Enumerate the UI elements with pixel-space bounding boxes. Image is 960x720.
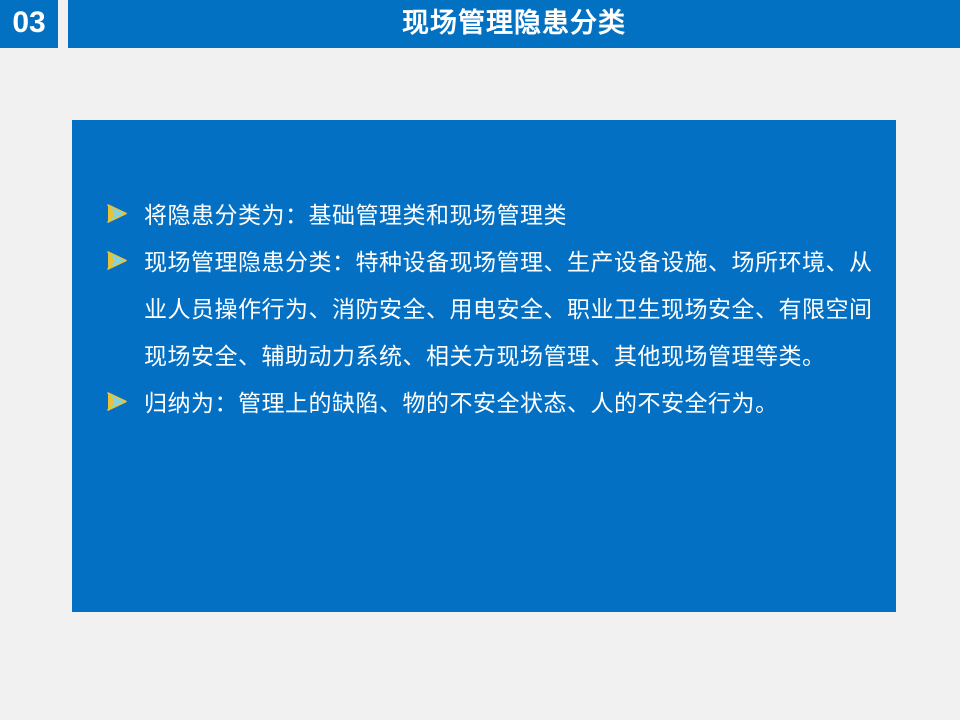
- list-item: 现场管理隐患分类：特种设备现场管理、生产设备设施、场所环境、从业人员操作行为、消…: [104, 239, 894, 380]
- list-item-text: 现场管理隐患分类：特种设备现场管理、生产设备设施、场所环境、从业人员操作行为、消…: [144, 249, 873, 369]
- title-bar: 现场管理隐患分类: [68, 0, 960, 48]
- content-panel: 将隐患分类为：基础管理类和现场管理类 现场管理隐患分类：特种设备现场管理、生产设…: [72, 120, 896, 612]
- list-item-text: 将隐患分类为：基础管理类和现场管理类: [144, 202, 567, 228]
- list-item: 将隐患分类为：基础管理类和现场管理类: [104, 192, 894, 239]
- arrow-head-bullet-icon: [104, 389, 130, 415]
- list-item-text: 归纳为：管理上的缺陷、物的不安全状态、人的不安全行为。: [144, 390, 779, 416]
- page-title: 现场管理隐患分类: [402, 10, 626, 39]
- arrow-head-bullet-icon: [104, 201, 130, 227]
- slide-header: 03 现场管理隐患分类: [0, 0, 960, 48]
- arrow-head-bullet-icon: [104, 248, 130, 274]
- header-divider: [58, 0, 68, 48]
- list-item: 归纳为：管理上的缺陷、物的不安全状态、人的不安全行为。: [104, 380, 894, 427]
- section-number-badge: 03: [0, 0, 58, 48]
- bullet-list: 将隐患分类为：基础管理类和现场管理类 现场管理隐患分类：特种设备现场管理、生产设…: [104, 192, 894, 427]
- section-number-label: 03: [12, 8, 45, 40]
